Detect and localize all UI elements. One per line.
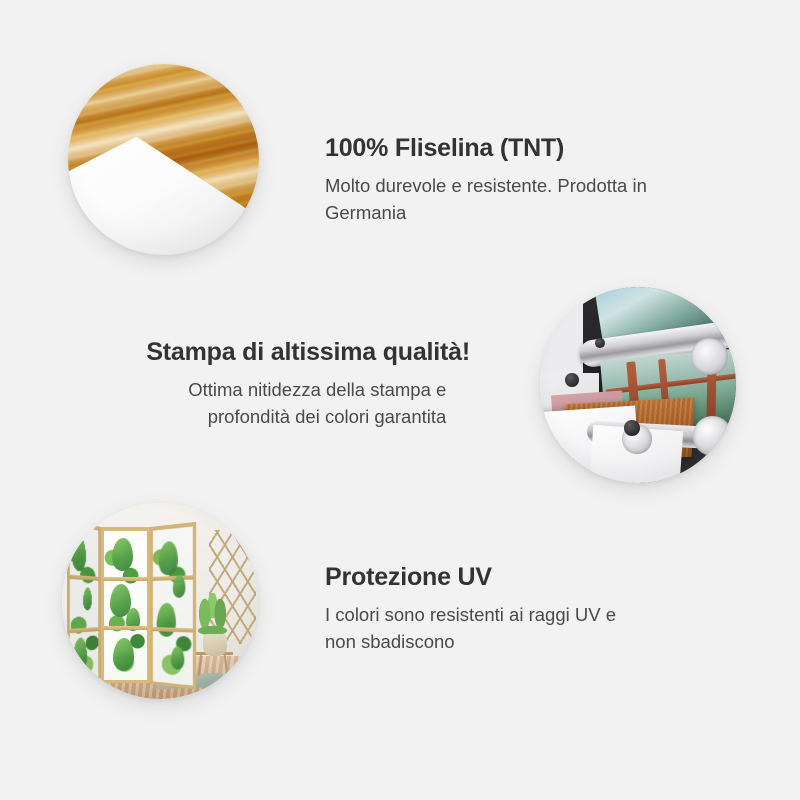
monstera-leaf [171, 646, 184, 670]
folding-screen-panel-right [150, 521, 196, 688]
room-folding-screen [66, 527, 195, 684]
monstera-leaf [159, 540, 178, 575]
monstera-leaf [73, 636, 87, 673]
feature-block-stampa-qualita: Stampa di altissima qualità! Ottima niti… [146, 338, 470, 430]
wallpaper-roll-peeled-corner-photo [68, 64, 259, 255]
room-photo-inner [62, 503, 258, 699]
monstera-leaf [113, 638, 134, 671]
tropical-room-divider-photo [62, 503, 258, 699]
monstera-leaf [126, 608, 140, 630]
wallpaper-vignette [68, 64, 259, 255]
feature-title-fliselina: 100% Fliselina (TNT) [325, 134, 655, 163]
printer-photo-inner [540, 287, 736, 483]
feature-description-protezione-uv: I colori sono resistenti ai raggi UV e n… [325, 601, 625, 655]
monstera-leaf [112, 538, 133, 571]
folding-screen-panel-left [67, 519, 101, 690]
feature-description-stampa-qualita: Ottima nitidezza della stampa e profondi… [146, 376, 446, 430]
printer-vignette [540, 287, 736, 483]
feature-block-protezione-uv: Protezione UV I colori sono resistenti a… [325, 563, 625, 655]
monstera-leaf [83, 587, 92, 611]
printing-machine-photo [540, 287, 736, 483]
feature-title-stampa-qualita: Stampa di altissima qualità! [146, 338, 470, 367]
monstera-leaf [157, 602, 176, 636]
feature-banner: 100% Fliselina (TNT) Molto durevole e re… [0, 0, 800, 800]
wallpaper-photo-inner [68, 64, 259, 255]
feature-block-fliselina: 100% Fliselina (TNT) Molto durevole e re… [325, 134, 655, 226]
feature-title-protezione-uv: Protezione UV [325, 563, 625, 592]
feature-description-fliselina: Molto durevole e resistente. Prodotta in… [325, 172, 655, 226]
monstera-leaf [72, 534, 86, 571]
folding-screen-panel-center [101, 527, 150, 684]
monstera-leaf [172, 574, 185, 598]
